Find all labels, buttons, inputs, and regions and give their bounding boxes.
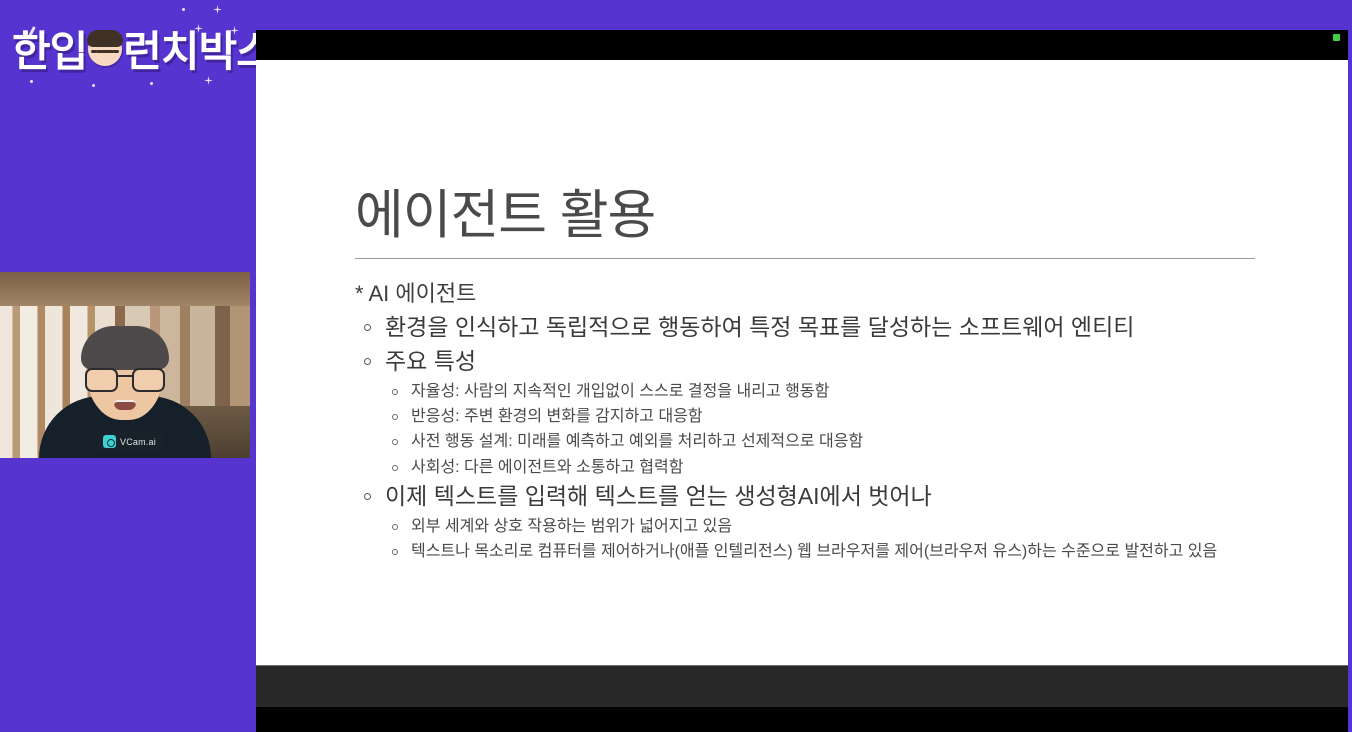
bullet-icon: [392, 465, 398, 471]
vcam-watermark-label: VCam.ai: [120, 437, 156, 447]
slide-bullet-level-1: 환경을 인식하고 독립적으로 행동하여 특정 목표를 달성하는 소프트웨어 엔티…: [355, 312, 1295, 344]
bullet-icon: [364, 324, 371, 331]
slide-bullet-level-2: 외부 세계와 상호 작용하는 범위가 넓어지고 있음: [355, 515, 1295, 539]
bullet-icon: [364, 358, 371, 365]
bullet-icon: [364, 493, 371, 500]
slide-bullet-text: 이제 텍스트를 입력해 텍스트를 얻는 생성형AI에서 벗어나: [385, 483, 932, 509]
slide-bullet-text: 텍스트나 목소리로 컴퓨터를 제어하거나(애플 인텔리전스) 웹 브라우저를 제…: [411, 543, 1217, 560]
camera-icon: [103, 435, 116, 448]
speaker-video-tile[interactable]: VCam.ai: [0, 272, 250, 458]
brand-name-left: 한입: [12, 18, 87, 79]
slide-bullet-level-1: 이제 텍스트를 입력해 텍스트를 얻는 생성형AI에서 벗어나: [355, 481, 1295, 513]
slide-bullet-text: 주요 특성: [385, 348, 476, 374]
slide-bullet-level-2: 사회성: 다른 에이전트와 소통하고 협력함: [355, 456, 1295, 480]
sparkle-dot-icon: [92, 84, 95, 87]
bullet-icon: [392, 549, 398, 555]
slide-bullet-text: 사회성: 다른 에이전트와 소통하고 협력함: [411, 459, 683, 476]
slide-bullet-level-1: 주요 특성: [355, 346, 1295, 378]
glasses-bridge: [116, 375, 134, 377]
slide-body: * AI 에이전트환경을 인식하고 독립적으로 행동하여 특정 목표를 달성하는…: [355, 278, 1295, 565]
vcam-watermark: VCam.ai: [97, 432, 162, 451]
shared-screen-top-bar: [256, 30, 1348, 60]
glasses-left-lens: [85, 368, 118, 392]
slide-title: 에이전트 활용: [355, 173, 655, 249]
bullet-icon: [392, 414, 398, 420]
shared-screen[interactable]: 에이전트 활용 * AI 에이전트환경을 인식하고 독립적으로 행동하여 특정 …: [256, 30, 1348, 711]
speaker-head: [86, 326, 164, 420]
glasses-icon: [85, 368, 165, 388]
shared-screen-bottom-bar: [256, 707, 1348, 732]
slide-bullet-level-2: 텍스트나 목소리로 컴퓨터를 제어하거나(애플 인텔리전스) 웹 브라우저를 제…: [355, 540, 1291, 564]
slide-bullet-text: 자율성: 사람의 지속적인 개입없이 스스로 결정을 내리고 행동함: [411, 383, 829, 400]
slide-bullet-level-2: 사전 행동 설계: 미래를 예측하고 예외를 처리하고 선제적으로 대응함: [355, 430, 1295, 454]
slide-bullet-text: 환경을 인식하고 독립적으로 행동하여 특정 목표를 달성하는 소프트웨어 엔티…: [385, 314, 1134, 340]
slide-bullet-text: 반응성: 주변 환경의 변화를 감지하고 대응함: [411, 408, 703, 425]
speaker-mouth: [114, 400, 136, 410]
recording-indicator-icon: [1333, 34, 1340, 41]
title-divider: [355, 258, 1255, 259]
video-background-ceiling: [0, 272, 250, 306]
bullet-icon: [392, 439, 398, 445]
sparkle-dot-icon: [30, 80, 33, 83]
sparkle-star-icon: [213, 5, 222, 14]
slide-bullet-level-2: 반응성: 주변 환경의 변화를 감지하고 대응함: [355, 405, 1295, 429]
brand-logo: 한입 런치박스: [8, 18, 248, 78]
presentation-slide: 에이전트 활용 * AI 에이전트환경을 인식하고 독립적으로 행동하여 특정 …: [256, 60, 1348, 665]
shared-screen-gray-bar: [256, 665, 1348, 707]
sparkle-dot-icon: [150, 82, 153, 85]
speaker-hair: [81, 326, 169, 370]
slide-bullet-text: * AI 에이전트: [355, 281, 476, 306]
bullet-icon: [392, 524, 398, 530]
person-face-icon: [88, 32, 122, 66]
sparkle-dot-icon: [182, 8, 185, 11]
slide-bullet-level-2: 자율성: 사람의 지속적인 개입없이 스스로 결정을 내리고 행동함: [355, 380, 1295, 404]
bullet-icon: [392, 389, 398, 395]
screen-share-window: 한입 런치박스: [0, 0, 1352, 732]
glasses-right-lens: [132, 368, 165, 392]
slide-bullet-text: 사전 행동 설계: 미래를 예측하고 예외를 처리하고 선제적으로 대응함: [411, 433, 863, 450]
slide-bullet-text: 외부 세계와 상호 작용하는 범위가 넓어지고 있음: [411, 518, 732, 535]
slide-bullet-level-0: * AI 에이전트: [355, 278, 1295, 309]
